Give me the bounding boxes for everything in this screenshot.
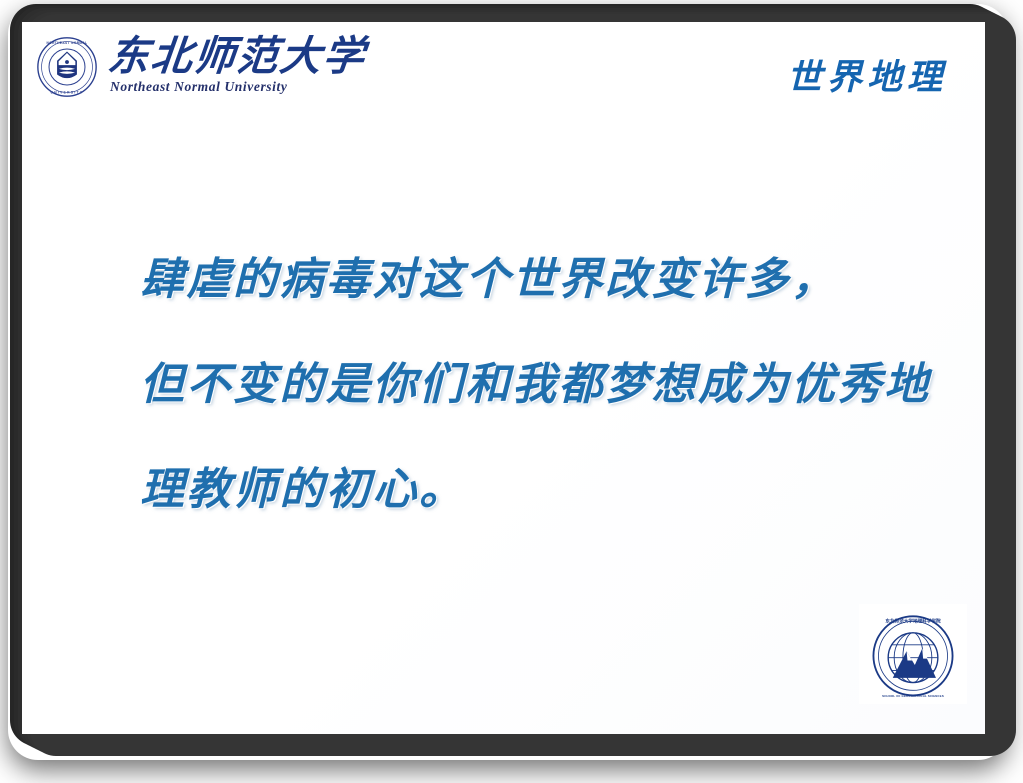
university-seal-icon: NORTHEAST NORMAL UNIVERSITY [36, 36, 98, 98]
slide-body-text: 肆虐的病毒对这个世界改变许多， 但不变的是你们和我都梦想成为优秀地 理教师的初心… [140, 227, 930, 542]
body-line-1: 肆虐的病毒对这个世界改变许多， [140, 227, 930, 332]
course-title: 世界地理 [787, 58, 947, 98]
svg-text:SCHOOL OF GEOGRAPHICAL SCIENCE: SCHOOL OF GEOGRAPHICAL SCIENCES [882, 694, 944, 698]
slide-page: NORTHEAST NORMAL UNIVERSITY 东北师范大学 North… [22, 22, 985, 734]
svg-text:东北师范大学地理科学学院: 东北师范大学地理科学学院 [885, 618, 941, 625]
presentation-stage: NORTHEAST NORMAL UNIVERSITY 东北师范大学 North… [0, 0, 1023, 783]
school-of-geographical-sciences-emblem-icon: 东北师范大学地理科学学院 SCHOOL OF GEOGRAPHICAL SCIE… [865, 608, 961, 700]
university-name-en: Northeast Normal University [108, 79, 287, 95]
department-emblem: 东北师范大学地理科学学院 SCHOOL OF GEOGRAPHICAL SCIE… [859, 604, 967, 704]
svg-text:UNIVERSITY: UNIVERSITY [51, 91, 84, 95]
body-line-3: 理教师的初心。 [140, 437, 930, 542]
svg-text:NORTHEAST NORMAL: NORTHEAST NORMAL [47, 41, 88, 45]
slide-header: NORTHEAST NORMAL UNIVERSITY 东北师范大学 North… [22, 22, 985, 122]
university-wordmark: 东北师范大学 Northeast Normal University [108, 34, 366, 95]
body-line-2: 但不变的是你们和我都梦想成为优秀地 [140, 332, 930, 437]
university-name-cn: 东北师范大学 [106, 34, 369, 78]
university-logo: NORTHEAST NORMAL UNIVERSITY 东北师范大学 North… [36, 34, 366, 98]
